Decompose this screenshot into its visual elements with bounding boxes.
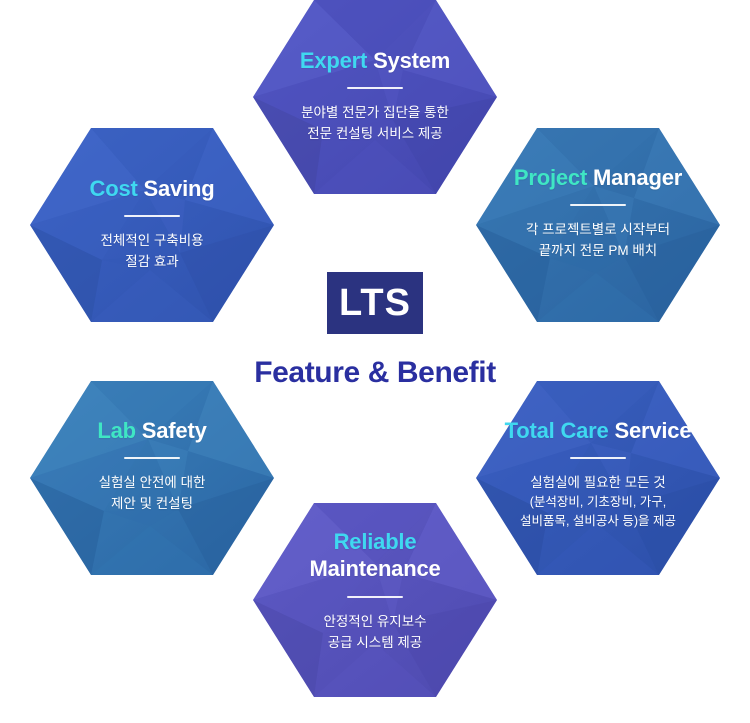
hexagon-shape-lab xyxy=(30,381,274,575)
hexagon-total-care-service[interactable]: Total Care Service 실험실에 필요한 모든 것 (분석장비, … xyxy=(476,381,720,575)
hexagon-reliable-maintenance[interactable]: Reliable Maintenance 안정적인 유지보수 공급 시스템 제공 xyxy=(253,503,497,697)
lts-logo: LTS xyxy=(327,272,423,334)
lts-logo-text: LTS xyxy=(339,284,411,322)
hexagon-shape-total xyxy=(476,381,720,575)
infographic-canvas: Expert System 분야별 전문가 집단을 통한 전문 컨설팅 서비스 … xyxy=(0,0,750,698)
hexagon-shape-expert xyxy=(253,0,497,194)
hexagon-expert-system[interactable]: Expert System 분야별 전문가 집단을 통한 전문 컨설팅 서비스 … xyxy=(253,0,497,194)
center-brand-block: LTS Feature & Benefit xyxy=(0,272,750,390)
page-title: Feature & Benefit xyxy=(254,356,496,390)
hexagon-shape-reliable xyxy=(253,503,497,697)
hexagon-lab-safety[interactable]: Lab Safety 실험실 안전에 대한 제안 및 컨설팅 xyxy=(30,381,274,575)
